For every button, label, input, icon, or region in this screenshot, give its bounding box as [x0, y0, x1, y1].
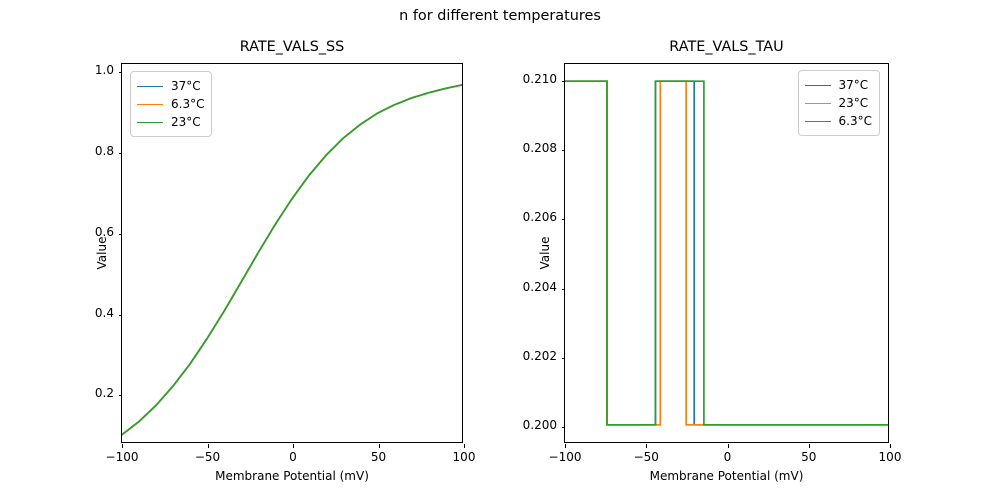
y-tick-mark	[562, 358, 566, 359]
y-tick-label: 0.202	[523, 349, 557, 363]
legend-entry-label: 23°C	[171, 115, 201, 129]
legend-entry-label: 37°C	[171, 79, 201, 93]
legend-color-swatch	[137, 104, 163, 105]
legend-color-swatch	[805, 103, 831, 104]
x-tick-mark	[646, 444, 647, 448]
x-tick-label: −100	[549, 450, 582, 464]
legend-right[interactable]: 37°C23°C6.3°C	[798, 70, 880, 136]
subplot-rate-vals-tau: RATE_VALS_TAU 0.2000.2020.2040.2060.2080…	[564, 63, 889, 443]
x-tick-mark	[122, 444, 123, 448]
legend-entry[interactable]: 37°C	[137, 77, 204, 95]
y-tick-label: 1.0	[95, 63, 114, 77]
y-tick-mark	[119, 153, 123, 154]
y-tick-mark	[119, 72, 123, 73]
series-line	[122, 85, 462, 435]
legend-entry[interactable]: 37°C	[805, 76, 872, 94]
x-axis-label-right: Membrane Potential (mV)	[565, 469, 888, 483]
x-tick-label: 0	[289, 450, 297, 464]
x-tick-mark	[728, 444, 729, 448]
x-tick-label: −100	[106, 450, 139, 464]
y-tick-mark	[119, 234, 123, 235]
x-tick-mark	[809, 444, 810, 448]
y-tick-mark	[562, 150, 566, 151]
y-axis-label-right: Value	[538, 193, 552, 313]
y-tick-mark	[119, 315, 123, 316]
matplotlib-figure: n for different temperatures RATE_VALS_S…	[0, 0, 1000, 500]
y-tick-label: 0.208	[523, 141, 557, 155]
legend-color-swatch	[137, 86, 163, 87]
y-tick-mark	[562, 219, 566, 220]
subplot-title-right: RATE_VALS_TAU	[565, 39, 888, 55]
legend-entry-label: 6.3°C	[171, 97, 204, 111]
series-line	[122, 85, 462, 435]
legend-color-swatch	[805, 121, 831, 122]
x-axis-label-left: Membrane Potential (mV)	[122, 469, 462, 483]
y-tick-mark	[119, 395, 123, 396]
x-tick-mark	[890, 444, 891, 448]
subplot-rate-vals-ss: RATE_VALS_SS 0.20.40.60.81.0 −100−500501…	[121, 63, 463, 443]
y-tick-label: 0.210	[523, 72, 557, 86]
x-tick-mark	[379, 444, 380, 448]
legend-entry[interactable]: 6.3°C	[137, 95, 204, 113]
y-tick-mark	[562, 289, 566, 290]
legend-entry-label: 6.3°C	[839, 114, 872, 128]
y-axis-label-left: Value	[95, 193, 109, 313]
x-tick-label: 50	[371, 450, 386, 464]
y-tick-label: 0.2	[95, 386, 114, 400]
y-tick-label: 0.200	[523, 418, 557, 432]
x-tick-label: 100	[453, 450, 476, 464]
legend-color-swatch	[137, 122, 163, 123]
x-tick-label: −50	[195, 450, 220, 464]
x-tick-mark	[464, 444, 465, 448]
legend-entry[interactable]: 6.3°C	[805, 112, 872, 130]
legend-left[interactable]: 37°C6.3°C23°C	[130, 71, 212, 137]
series-line	[122, 85, 462, 435]
legend-entry-label: 37°C	[839, 78, 869, 92]
figure-suptitle: n for different temperatures	[0, 8, 1000, 24]
legend-entry[interactable]: 23°C	[137, 113, 204, 131]
x-tick-label: 50	[801, 450, 816, 464]
y-tick-label: 0.8	[95, 144, 114, 158]
x-tick-label: 0	[724, 450, 732, 464]
x-tick-mark	[208, 444, 209, 448]
legend-entry[interactable]: 23°C	[805, 94, 872, 112]
subplot-title-left: RATE_VALS_SS	[122, 39, 462, 55]
y-tick-mark	[562, 427, 566, 428]
x-tick-mark	[565, 444, 566, 448]
x-tick-label: −50	[634, 450, 659, 464]
y-tick-mark	[562, 81, 566, 82]
x-tick-label: 100	[879, 450, 902, 464]
legend-color-swatch	[805, 85, 831, 86]
x-tick-mark	[293, 444, 294, 448]
legend-entry-label: 23°C	[839, 96, 869, 110]
